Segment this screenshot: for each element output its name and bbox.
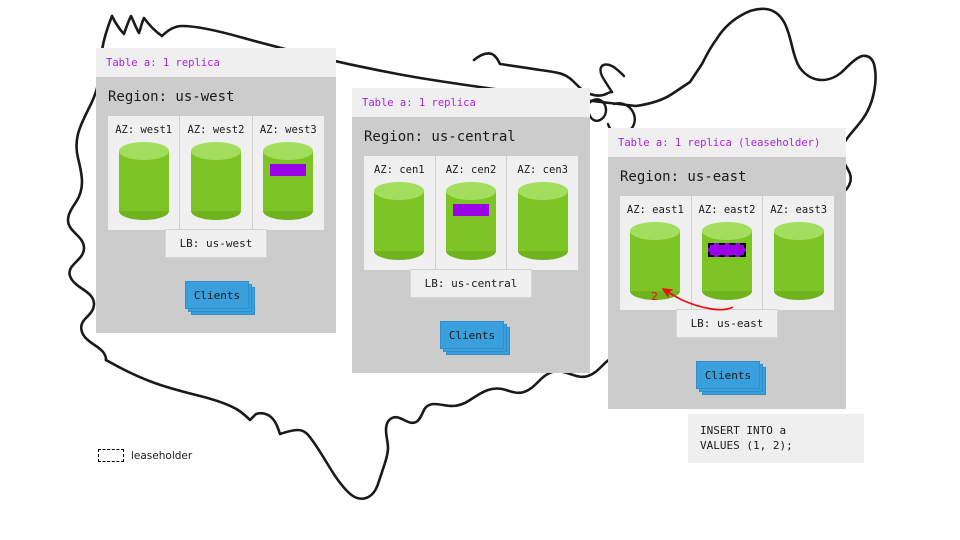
region-title: Region: us-west [96, 77, 336, 116]
annotation-step-2-label: 2 [651, 290, 658, 303]
clients-stack[interactable]: Clients [440, 321, 502, 347]
cylinder-top [630, 222, 680, 240]
cylinder-top [774, 222, 824, 240]
region-panel-us-central: Table a: 1 replica Region: us-central AZ… [352, 88, 590, 373]
cylinder-top [446, 182, 496, 200]
cylinder-top [702, 222, 752, 240]
clients-wrap: Clients [608, 339, 846, 387]
cylinder-body [518, 191, 568, 251]
region-title: Region: us-central [352, 117, 590, 156]
region-panel-us-east: Table a: 1 replica (leaseholder) Region:… [608, 128, 846, 409]
az-label: AZ: east1 [620, 204, 691, 216]
lb-wrap: LB: us-west [96, 230, 336, 259]
node-cylinder[interactable] [119, 142, 169, 220]
az-row: AZ: cen1 AZ: cen2 [364, 156, 578, 270]
node-cylinder[interactable] [518, 182, 568, 260]
az-row: AZ: west1 AZ: west2 AZ [108, 116, 324, 230]
dashed-rect-icon [98, 449, 124, 462]
replica-marker [270, 164, 306, 176]
region-panel-us-west: Table a: 1 replica Region: us-west AZ: w… [96, 48, 336, 333]
az-label: AZ: west1 [108, 124, 179, 136]
legend: leaseholder [98, 449, 192, 462]
node-cylinder[interactable] [774, 222, 824, 300]
cylinder-body [446, 191, 496, 251]
region-title: Region: us-east [608, 157, 846, 196]
clients-button[interactable]: Clients [696, 361, 760, 389]
az-label: AZ: cen1 [364, 164, 435, 176]
cylinder-body [263, 151, 313, 211]
region-body: Region: us-central AZ: cen1 AZ: cen2 [352, 117, 590, 373]
az-cell-cen1[interactable]: AZ: cen1 [364, 156, 436, 270]
clients-wrap: Clients [352, 299, 590, 347]
cylinder-top [374, 182, 424, 200]
clients-button[interactable]: Clients [185, 281, 249, 309]
az-cell-east2[interactable]: AZ: east2 [692, 196, 764, 310]
az-label: AZ: east3 [763, 204, 834, 216]
cylinder-top [518, 182, 568, 200]
az-label: AZ: cen2 [436, 164, 507, 176]
node-cylinder[interactable] [446, 182, 496, 260]
az-label: AZ: west2 [180, 124, 251, 136]
az-label: AZ: east2 [692, 204, 763, 216]
az-cell-west1[interactable]: AZ: west1 [108, 116, 180, 230]
cylinder-top [191, 142, 241, 160]
replica-banner: Table a: 1 replica [352, 88, 590, 117]
cylinder-body [119, 151, 169, 211]
node-cylinder[interactable] [374, 182, 424, 260]
load-balancer-box[interactable]: LB: us-central [410, 269, 533, 298]
cylinder-body [191, 151, 241, 211]
node-cylinder[interactable] [630, 222, 680, 300]
cylinder-body [630, 231, 680, 291]
clients-stack[interactable]: Clients [696, 361, 758, 387]
cylinder-body [374, 191, 424, 251]
cylinder-body [702, 231, 752, 291]
clients-wrap: Clients [96, 259, 336, 307]
node-cylinder[interactable] [263, 142, 313, 220]
lb-wrap: LB: us-central [352, 270, 590, 299]
leaseholder-replica-marker [708, 243, 746, 257]
region-body: Region: us-west AZ: west1 AZ: west2 [96, 77, 336, 333]
replica-marker [453, 204, 489, 216]
az-cell-west3[interactable]: AZ: west3 [253, 116, 324, 230]
region-body: Region: us-east AZ: east1 AZ: east2 [608, 157, 846, 409]
load-balancer-box[interactable]: LB: us-west [165, 229, 268, 258]
sql-statement-note: INSERT INTO a VALUES (1, 2); [688, 414, 864, 463]
az-label: AZ: cen3 [507, 164, 578, 176]
az-cell-cen3[interactable]: AZ: cen3 [507, 156, 578, 270]
az-cell-east3[interactable]: AZ: east3 [763, 196, 834, 310]
legend-label: leaseholder [131, 450, 192, 462]
node-cylinder[interactable] [191, 142, 241, 220]
diagram-canvas: Table a: 1 replica Region: us-west AZ: w… [0, 0, 960, 540]
az-label: AZ: west3 [253, 124, 324, 136]
clients-stack[interactable]: Clients [185, 281, 247, 307]
clients-button[interactable]: Clients [440, 321, 504, 349]
replica-banner: Table a: 1 replica [96, 48, 336, 77]
az-cell-cen2[interactable]: AZ: cen2 [436, 156, 508, 270]
cylinder-body [774, 231, 824, 291]
lb-wrap: LB: us-east [608, 310, 846, 339]
cylinder-top [119, 142, 169, 160]
replica-banner: Table a: 1 replica (leaseholder) [608, 128, 846, 157]
az-cell-west2[interactable]: AZ: west2 [180, 116, 252, 230]
cylinder-top [263, 142, 313, 160]
load-balancer-box[interactable]: LB: us-east [676, 309, 779, 338]
node-cylinder[interactable] [702, 222, 752, 300]
